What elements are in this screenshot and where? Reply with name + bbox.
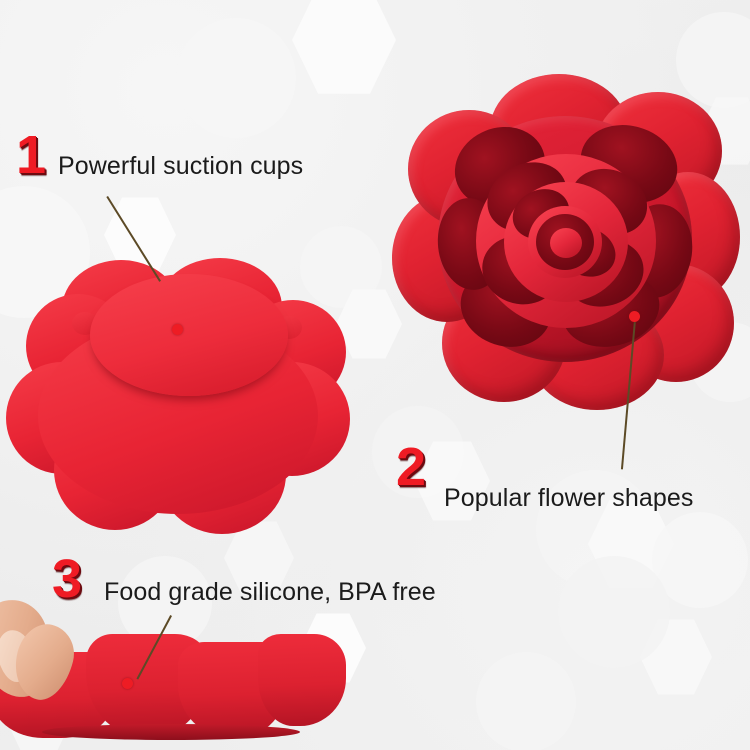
bokeh-circle bbox=[652, 512, 748, 608]
suction-cup-base-disc bbox=[90, 274, 288, 396]
callout-2-number: 2 bbox=[396, 440, 425, 494]
hand-holding-mold bbox=[0, 596, 90, 716]
callout-3-label: Food grade silicone, BPA free bbox=[104, 578, 436, 607]
bokeh-circle bbox=[558, 556, 670, 668]
callout-1-number: 1 bbox=[16, 128, 45, 182]
bokeh-circle bbox=[176, 18, 296, 138]
flipped-mold-suction-base bbox=[8, 258, 348, 540]
bokeh-circle bbox=[476, 652, 576, 750]
callout-3-number: 3 bbox=[52, 552, 81, 606]
rose-center-bud bbox=[550, 228, 582, 258]
callout-2-label: Popular flower shapes bbox=[444, 484, 693, 513]
mold-wall-segment bbox=[258, 634, 346, 726]
callout-1-label: Powerful suction cups bbox=[58, 152, 303, 181]
bokeh-hexagon bbox=[640, 618, 712, 696]
mold-base-shadow bbox=[42, 724, 300, 740]
rose-mold-top-view bbox=[394, 78, 736, 408]
infographic-canvas: 1 Powerful suction cups 2 Popular flower… bbox=[0, 0, 750, 750]
callout-1-pointer-dot bbox=[172, 324, 183, 335]
bokeh-hexagon bbox=[292, 0, 396, 96]
callout-3-pointer-dot bbox=[122, 678, 133, 689]
callout-2-pointer-dot bbox=[629, 311, 640, 322]
